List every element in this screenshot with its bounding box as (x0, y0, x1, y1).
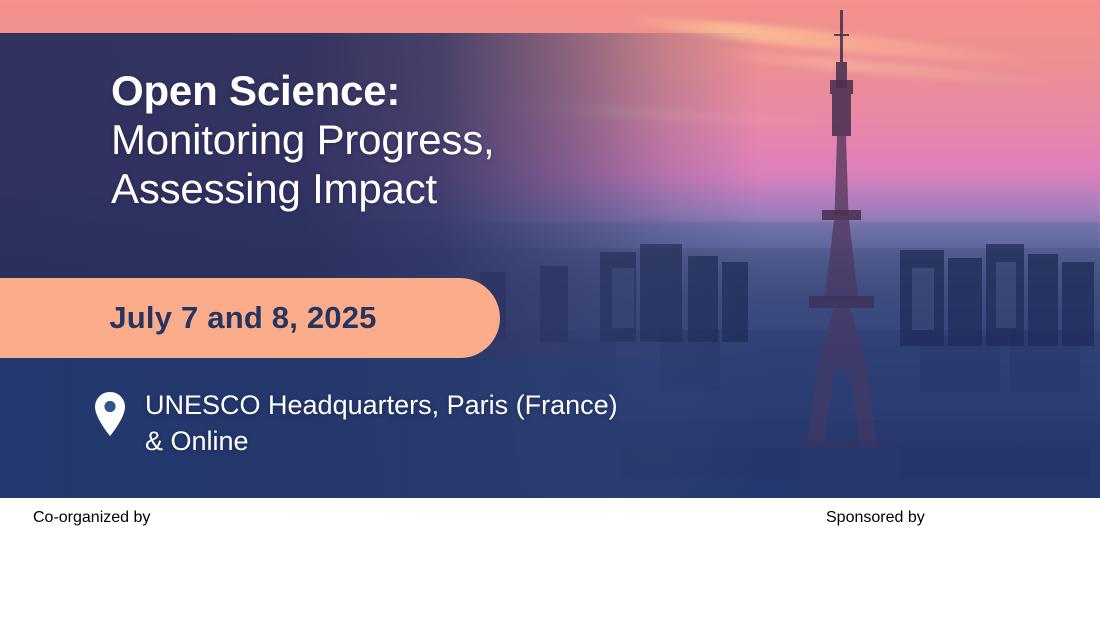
event-date-badge: July 7 and 8, 2025 (0, 278, 500, 358)
title-line-1: Open Science: (111, 66, 711, 115)
title-line-3: Assessing Impact (111, 164, 711, 213)
event-location: UNESCO Headquarters, Paris (France) & On… (94, 388, 618, 459)
footer-logos-bar: Co-organized by Sponsored by unesco (0, 498, 1100, 619)
title-line-2: Monitoring Progress, (111, 115, 711, 164)
event-banner: Open Science: Monitoring Progress, Asses… (0, 0, 1100, 619)
event-date-text: July 7 and 8, 2025 (109, 300, 376, 336)
event-location-text: UNESCO Headquarters, Paris (France) & On… (145, 388, 618, 459)
page-title: Open Science: Monitoring Progress, Asses… (111, 66, 711, 213)
map-pin-icon (94, 392, 126, 436)
co-organized-label: Co-organized by (33, 509, 150, 527)
sponsored-label: Sponsored by (826, 509, 925, 527)
